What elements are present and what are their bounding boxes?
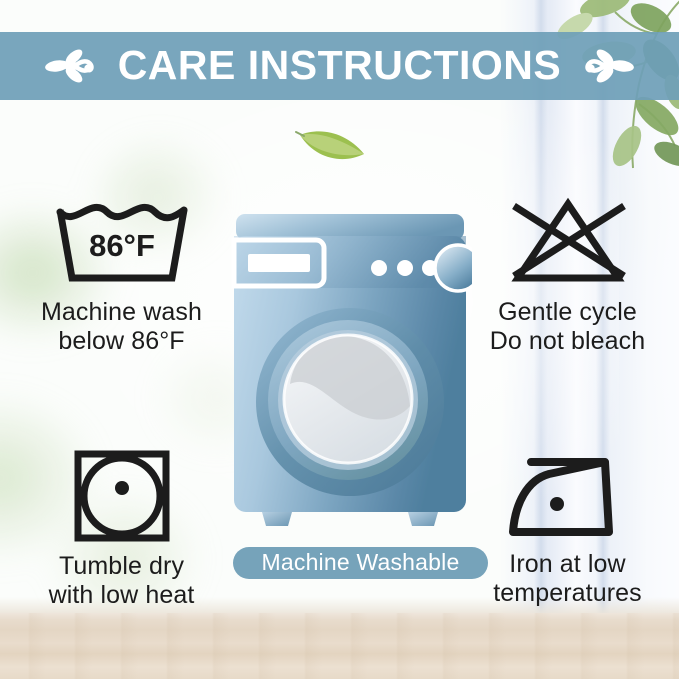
washer-dial [435, 245, 472, 291]
header-banner: CARE INSTRUCTIONS [0, 32, 679, 100]
fleur-de-lis-left-icon [44, 46, 96, 86]
fleur-de-lis-right-icon [583, 46, 635, 86]
care-caption-line1: Gentle cycle [460, 298, 675, 327]
care-caption-line1: Iron at low [460, 550, 675, 579]
care-symbol-tumble-dry: Tumble dry with low heat [14, 448, 229, 609]
care-caption-line2: Do not bleach [460, 327, 675, 356]
tumble-dry-square-icon [70, 448, 174, 544]
care-caption-line2: below 86°F [14, 327, 229, 356]
care-caption-line1: Tumble dry [14, 552, 229, 581]
care-caption-line2: temperatures [460, 579, 675, 608]
care-symbol-no-bleach: Gentle cycle Do not bleach [460, 196, 675, 355]
machine-washable-badge: Machine Washable [233, 547, 488, 579]
wash-temperature-value: 86°F [89, 228, 155, 263]
iron-icon [505, 448, 631, 540]
care-caption-line2: with low heat [14, 581, 229, 610]
page-title: CARE INSTRUCTIONS [118, 45, 562, 88]
wash-tub-icon: 86°F [48, 198, 196, 290]
washing-machine-illustration [228, 206, 472, 536]
washer-foot-right [408, 512, 438, 526]
washer-drawer-slot [248, 254, 310, 272]
triangle-crossed-out-icon [494, 196, 642, 288]
care-caption-line1: Machine wash [14, 298, 229, 327]
care-symbol-iron: Iron at low temperatures [460, 448, 675, 607]
floating-leaf-icon [294, 118, 372, 170]
washer-indicator-dot [397, 260, 413, 276]
table-wood-grain [0, 613, 679, 679]
badge-label: Machine Washable [262, 551, 460, 576]
washer-foot-left [262, 512, 292, 526]
washer-indicator-dot [371, 260, 387, 276]
care-symbol-machine-wash: 86°F Machine wash below 86°F [14, 198, 229, 355]
